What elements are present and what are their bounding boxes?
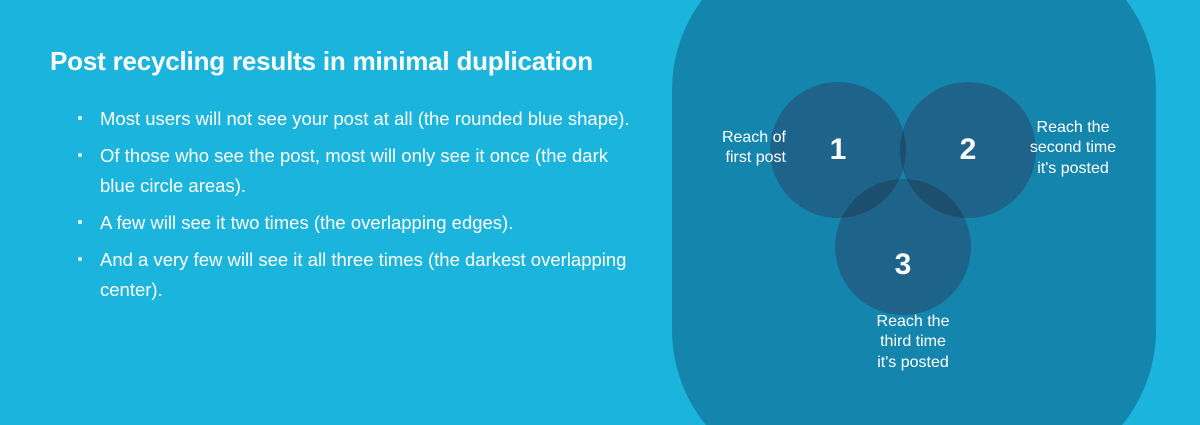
- venn-label-second-line-1: Reach the: [1000, 118, 1146, 138]
- venn-number-1: 1: [818, 135, 858, 165]
- venn-label-second-post: Reach the second time it's posted: [1000, 118, 1146, 179]
- venn-label-second-line-3: it's posted: [1000, 159, 1146, 179]
- list-item-text: Of those who see the post, most will onl…: [100, 145, 608, 196]
- text-column: Post recycling results in minimal duplic…: [0, 0, 660, 425]
- list-item: Of those who see the post, most will onl…: [70, 141, 630, 201]
- venn-number-2: 2: [948, 135, 988, 165]
- list-item-text: Most users will not see your post at all…: [100, 108, 630, 129]
- list-item-text: And a very few will see it all three tim…: [100, 249, 626, 300]
- bullet-dot-icon: [78, 257, 82, 261]
- venn-label-third-post: Reach the third time it's posted: [840, 312, 986, 373]
- list-item: A few will see it two times (the overlap…: [70, 208, 630, 238]
- venn-label-first-line-2: first post: [660, 148, 786, 168]
- list-item: Most users will not see your post at all…: [70, 104, 630, 134]
- bullet-dot-icon: [78, 153, 82, 157]
- venn-label-first-post: Reach of first post: [660, 128, 786, 169]
- bullet-list: Most users will not see your post at all…: [70, 104, 630, 312]
- list-item: And a very few will see it all three tim…: [70, 245, 630, 305]
- page-title: Post recycling results in minimal duplic…: [50, 47, 650, 77]
- venn-label-third-line-3: it's posted: [840, 353, 986, 373]
- venn-diagram: 1 2 3 Reach of first post Reach the seco…: [660, 0, 1200, 425]
- list-item-text: A few will see it two times (the overlap…: [100, 212, 513, 233]
- slide-root: Post recycling results in minimal duplic…: [0, 0, 1200, 425]
- venn-label-third-line-2: third time: [840, 332, 986, 352]
- venn-label-third-line-1: Reach the: [840, 312, 986, 332]
- venn-number-3: 3: [883, 250, 923, 280]
- bullet-dot-icon: [78, 116, 82, 120]
- venn-label-first-line-1: Reach of: [660, 128, 786, 148]
- venn-label-second-line-2: second time: [1000, 138, 1146, 158]
- bullet-dot-icon: [78, 220, 82, 224]
